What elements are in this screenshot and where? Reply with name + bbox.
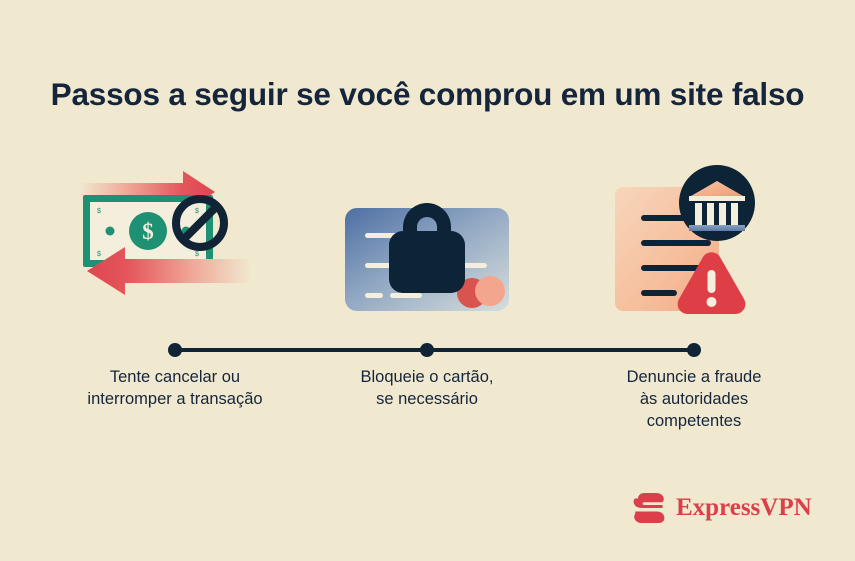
brand-logo-text: ExpressVPN — [676, 494, 812, 522]
step-1-illustration: $ $ $ $ $ — [45, 165, 305, 325]
step-3-illustration — [563, 165, 823, 325]
step-2-caption-line-1: Bloqueie o cartão, — [287, 366, 567, 388]
step-3-caption: Denuncie a fraude às autoridades compete… — [554, 366, 834, 432]
timeline-dot-step-2[interactable] — [420, 343, 434, 357]
step-1-caption: Tente cancelar ou interromper a transaçã… — [35, 366, 315, 410]
brand-logo[interactable]: ExpressVPN — [632, 492, 812, 524]
timeline-dot-step-3[interactable] — [687, 343, 701, 357]
step-2-caption: Bloqueie o cartão, se necessário — [287, 366, 567, 410]
step-3-caption-line-1: Denuncie a fraude — [554, 366, 834, 388]
report-fraud-icon — [593, 165, 793, 315]
step-3-caption-line-2: às autoridades — [554, 388, 834, 410]
svg-text:$: $ — [97, 251, 101, 258]
step-2-caption-line-2: se necessário — [287, 388, 567, 410]
timeline — [168, 343, 701, 357]
step-3-caption-line-3: competentes — [554, 410, 834, 432]
banknote-currency-symbol: $ — [142, 219, 154, 244]
step-1-caption-line-2: interromper a transação — [35, 388, 315, 410]
timeline-line — [175, 348, 694, 352]
infographic-canvas: Passos a seguir se você comprou em um si… — [0, 0, 855, 561]
svg-text:$: $ — [195, 208, 199, 215]
svg-text:$: $ — [195, 251, 199, 258]
bank-building-icon — [679, 165, 755, 241]
block-card-icon — [327, 165, 527, 315]
step-1-caption-line-1: Tente cancelar ou — [35, 366, 315, 388]
step-2-illustration — [297, 165, 557, 325]
expressvpn-e-mark-icon — [632, 492, 666, 524]
timeline-dot-step-1[interactable] — [168, 343, 182, 357]
svg-text:$: $ — [97, 208, 101, 215]
cancel-transaction-icon: $ $ $ $ $ — [75, 165, 275, 315]
page-title: Passos a seguir se você comprou em um si… — [0, 74, 855, 114]
